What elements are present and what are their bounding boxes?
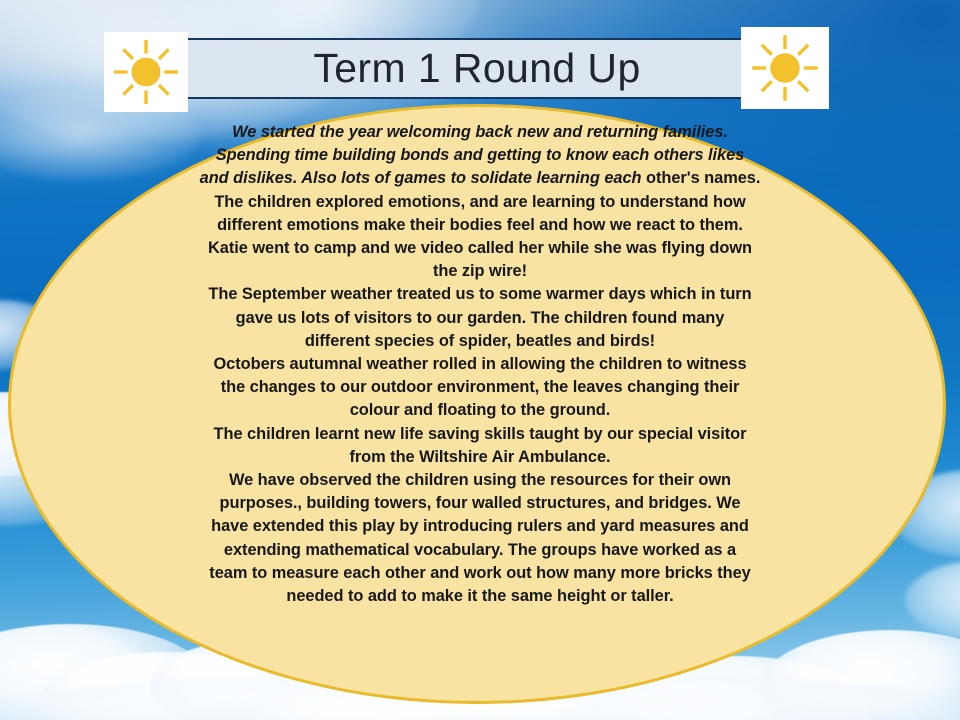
body-line: the zip wire! — [140, 260, 820, 283]
body-line: and dislikes. Also lots of games to soli… — [140, 167, 820, 190]
body-line: different species of spider, beatles and… — [140, 330, 820, 353]
body-line: The children learnt new life saving skil… — [140, 423, 820, 446]
body-line: from the Wiltshire Air Ambulance. — [140, 446, 820, 469]
sun-icon — [741, 27, 829, 109]
page-title: Term 1 Round Up — [105, 38, 825, 99]
body-line: Spending time building bonds and getting… — [140, 144, 820, 167]
body-line: have extended this play by introducing r… — [140, 515, 820, 538]
body-line: needed to add to make it the same height… — [140, 585, 820, 608]
slide-canvas: Term 1 Round Up — [0, 0, 960, 720]
body-line: purposes., building towers, four walled … — [140, 492, 820, 515]
body-line-italic: Spending time building bonds and getting… — [216, 146, 745, 164]
body-line: the changes to our outdoor environment, … — [140, 376, 820, 399]
body-line: extending mathematical vocabulary. The g… — [140, 539, 820, 562]
body-line: Katie went to camp and we video called h… — [140, 237, 820, 260]
body-line: colour and floating to the ground. — [140, 399, 820, 422]
body-line-italic: and dislikes. Also lots of games to soli… — [200, 169, 642, 187]
body-line: team to measure each other and work out … — [140, 562, 820, 585]
body-line: gave us lots of visitors to our garden. … — [140, 307, 820, 330]
body-line-normal: other's names. — [642, 169, 761, 187]
body-line: The children explored emotions, and are … — [140, 191, 820, 214]
body-line: The September weather treated us to some… — [140, 283, 820, 306]
body-text: We started the year welcoming back new a… — [140, 121, 820, 608]
body-line: We have observed the children using the … — [140, 469, 820, 492]
body-line: different emotions make their bodies fee… — [140, 214, 820, 237]
sun-icon — [104, 32, 188, 112]
body-line: We started the year welcoming back new a… — [140, 121, 820, 144]
body-line: Octobers autumnal weather rolled in allo… — [140, 353, 820, 376]
body-line-italic: We started the year welcoming back new a… — [232, 123, 728, 141]
